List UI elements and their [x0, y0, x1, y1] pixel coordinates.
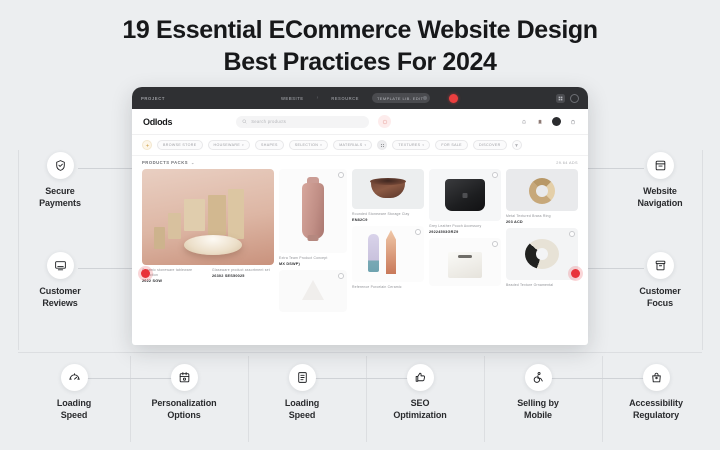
search-input[interactable]: Search products [236, 116, 369, 128]
chip-label: SHAPES [261, 143, 278, 147]
topbar-nav-resource-label: RESOURCE [331, 96, 359, 101]
callout-label: Personalization Options [132, 398, 236, 422]
sparkle-icon [145, 143, 150, 148]
chevron-down-icon: ▾ [242, 143, 244, 147]
product-price: EN82C9 [352, 218, 424, 222]
monitor-icon [47, 252, 74, 279]
callout-label-line2: Options [167, 410, 200, 420]
category-chip-row: BROWSE STORE HOUSEWARE▾ SHAPES SELECTION… [132, 135, 588, 156]
callout-loading-speed-2[interactable]: Loading Speed [250, 364, 354, 422]
page-title-line-2: Best Practices For 2024 [0, 46, 720, 78]
chip-filter[interactable] [512, 140, 522, 150]
share-icon[interactable] [570, 94, 579, 103]
search-placeholder: Search products [251, 119, 286, 124]
chip-label: FOR SALE [441, 143, 462, 147]
bag-handle-icon [643, 364, 670, 391]
callout-selling-by-mobile[interactable]: Selling by Mobile [486, 364, 590, 422]
product-price: 2022 SGW [142, 279, 204, 283]
product-price: MX DSWP) [279, 262, 347, 266]
callout-label-line2: Payments [39, 198, 81, 208]
favorite-icon[interactable] [492, 241, 498, 247]
callout-label-line1: Personalization [151, 398, 216, 408]
callout-label: Website Navigation [608, 186, 712, 210]
callout-website-navigation[interactable]: Website Navigation [608, 152, 712, 210]
gold-ring-image [506, 169, 578, 211]
calendar-icon [171, 364, 198, 391]
pink-bottle-image [279, 169, 347, 253]
chip-dot-grid[interactable] [377, 140, 387, 150]
products-count: 29.64 ADS [556, 161, 578, 165]
product-card-hero[interactable]: Ceramic stoneware tableware collection 2… [142, 169, 274, 283]
favorite-icon[interactable] [415, 229, 421, 235]
ceramic-bowl [184, 235, 242, 255]
callout-label-line1: Accessibility [629, 398, 683, 408]
product-caption: Ceramic stoneware tableware collection [142, 268, 204, 278]
thumbs-up-icon [407, 364, 434, 391]
favorite-icon[interactable] [338, 273, 344, 279]
callout-label-line1: Website [643, 186, 677, 196]
store-header: Odlods Search products [132, 109, 588, 135]
callout-seo-optimization[interactable]: SEO Optimization [368, 364, 472, 422]
callout-label: Customer Focus [608, 286, 712, 310]
product-price: 26302 SES50025 [212, 274, 274, 278]
black-pouch-image [429, 169, 501, 221]
document-icon [289, 364, 316, 391]
product-card-tissue[interactable] [429, 238, 501, 286]
callout-label-line1: SEO [411, 398, 430, 408]
callout-label-line2: Navigation [637, 198, 682, 208]
divider-v3 [366, 356, 367, 442]
callout-label-line2: Reviews [42, 298, 77, 308]
product-card-pouch[interactable]: Grey Leather Pouch Accessory 29224503GRZ… [429, 169, 501, 234]
callout-personalization-options[interactable]: Personalization Options [132, 364, 236, 422]
chip-sparkle[interactable] [142, 140, 152, 150]
store-logo[interactable]: Odlods [143, 117, 172, 127]
chevron-down-icon: ▾ [320, 143, 322, 147]
product-caption: Rounded Stoneware Storage Clay [352, 212, 424, 217]
product-card-brown-bowl[interactable]: Rounded Stoneware Storage Clay EN82C9 [352, 169, 424, 222]
accessibility-icon [525, 364, 552, 391]
product-caption: Glassware product assortment set [212, 268, 274, 273]
assistant-button[interactable] [378, 115, 391, 128]
topbar-nav-website-label: WEBSITE [281, 96, 304, 101]
callout-label-line1: Customer [639, 286, 680, 296]
chip-label: TEXTURES [398, 143, 420, 147]
callout-label: Customer Reviews [8, 286, 112, 310]
chip-label: HOUSEWARE [214, 143, 241, 147]
page-title-line-1: 19 Essential ECommerce Website Design [0, 14, 720, 46]
chip-discover[interactable]: DISCOVER [473, 140, 507, 150]
callout-loading-speed-1[interactable]: Loading Speed [22, 364, 126, 422]
callout-customer-focus[interactable]: Customer Focus [608, 252, 712, 310]
topbar-brand: PROJECT [141, 96, 165, 101]
topbar-nav-website[interactable]: WEBSITE [281, 96, 304, 101]
topbar-separator: › [317, 95, 319, 101]
product-card-gold-ring[interactable]: Metal Textured Brass Ring 203 ACD [506, 169, 578, 224]
hotspot-marker-left[interactable] [141, 269, 150, 278]
divider-v1 [130, 356, 131, 442]
chip-shapes[interactable]: SHAPES [255, 140, 284, 150]
callout-label-line1: Secure [45, 186, 74, 196]
callout-secure-payments[interactable]: Secure Payments [8, 152, 112, 210]
products-bar: PRODUCTS PACKS ⌄ 29.64 ADS [132, 156, 588, 167]
chip-label: BROWSE STORE [163, 143, 197, 147]
callout-label-line1: Loading [285, 398, 319, 408]
callout-label-line2: Focus [647, 298, 673, 308]
divider-horizontal [18, 352, 702, 353]
browser-mockup: PROJECT WEBSITE › RESOURCE TEMPLATE LIB.… [132, 87, 588, 345]
product-caption: Beaded Texture Ornamental [506, 283, 578, 288]
callout-label: SEO Optimization [368, 398, 472, 422]
product-price: 203 ACD [506, 220, 578, 224]
favorite-icon[interactable] [338, 172, 344, 178]
product-column-e: Metal Textured Brass Ring 203 ACD Beaded… [506, 169, 578, 337]
callout-label-line2: Regulatory [633, 410, 679, 420]
hotspot-marker-right[interactable] [571, 269, 580, 278]
topbar-nav-resource[interactable]: RESOURCE [331, 96, 359, 101]
products-label: PRODUCTS PACKS [142, 160, 188, 165]
callout-label: Selling by Mobile [486, 398, 590, 422]
sparkle-icon [382, 119, 388, 125]
chip-browse-store[interactable]: BROWSE STORE [157, 140, 203, 150]
callout-label-line1: Customer [39, 286, 80, 296]
mockup-topbar: PROJECT WEBSITE › RESOURCE TEMPLATE LIB.… [132, 87, 588, 109]
callout-label: Accessibility Regulatory [604, 398, 708, 422]
shield-check-icon [47, 152, 74, 179]
favorite-icon[interactable] [492, 172, 498, 178]
chevron-down-icon: ▾ [422, 143, 424, 147]
white-lamp-image [279, 270, 347, 312]
archive-box-icon [647, 252, 674, 279]
callout-label-line2: Optimization [393, 410, 446, 420]
dot-grid-icon [380, 143, 385, 148]
chip-for-sale[interactable]: FOR SALE [435, 140, 468, 150]
store-icon [647, 152, 674, 179]
avatar[interactable] [552, 117, 561, 126]
ceramic-hero-image [142, 169, 274, 265]
brown-bowl-image [352, 169, 424, 209]
callout-label: Loading Speed [22, 398, 126, 422]
tissue-box-image [429, 238, 501, 286]
callout-label-line1: Loading [57, 398, 91, 408]
chevron-down-icon[interactable]: ⌄ [191, 160, 195, 165]
callout-customer-reviews[interactable]: Customer Reviews [8, 252, 112, 310]
search-icon [242, 119, 247, 124]
product-card-cream-ring[interactable]: Beaded Texture Ornamental [506, 228, 578, 288]
store-header-actions [520, 117, 577, 126]
callout-label-line2: Speed [61, 410, 88, 420]
page-title: 19 Essential ECommerce Website Design Be… [0, 14, 720, 78]
product-caption: Metal Textured Brass Ring [506, 214, 578, 219]
pastel-pencils-image [352, 226, 424, 282]
bag-icon[interactable] [569, 118, 577, 126]
product-caption: Reference Porcelain Ceramic [352, 285, 424, 290]
product-grid: Ceramic stoneware tableware collection 2… [132, 167, 588, 337]
product-column-d: Grey Leather Pouch Accessory 29224503GRZ… [429, 169, 501, 337]
divider-v2 [248, 356, 249, 442]
speedometer-icon [61, 364, 88, 391]
chevron-down-icon: ▾ [364, 143, 366, 147]
callout-label: Secure Payments [8, 186, 112, 210]
callout-label-line2: Mobile [524, 410, 552, 420]
favorite-icon[interactable] [569, 231, 575, 237]
filter-icon [514, 143, 519, 148]
divider-v5 [602, 356, 603, 442]
bookmark-icon[interactable] [536, 118, 544, 126]
chip-houseware[interactable]: HOUSEWARE▾ [208, 140, 251, 150]
callout-label-line2: Speed [289, 410, 316, 420]
grid-icon[interactable] [556, 94, 565, 103]
chip-selection[interactable]: SELECTION▾ [289, 140, 328, 150]
product-caption: Grey Leather Pouch Accessory [429, 224, 501, 229]
product-caption: Extra Team Product Concept [279, 256, 347, 261]
chip-textures[interactable]: TEXTURES▾ [392, 140, 430, 150]
chip-materials[interactable]: MATERIALS▾ [333, 140, 372, 150]
topbar-right-icons [556, 94, 579, 103]
divider-v4 [484, 356, 485, 442]
product-column-b: Extra Team Product Concept MX DSWP) [279, 169, 347, 337]
product-card-pencils[interactable]: Reference Porcelain Ceramic [352, 226, 424, 290]
topbar-pill[interactable]: TEMPLATE LIB. EDIT [372, 93, 430, 103]
bell-icon[interactable] [520, 118, 528, 126]
chip-label: MATERIALS [339, 143, 362, 147]
callout-label-line1: Selling by [517, 398, 559, 408]
hero-captions: Ceramic stoneware tableware collection 2… [142, 265, 274, 283]
chip-label: SELECTION [295, 143, 319, 147]
product-column-c: Rounded Stoneware Storage Clay EN82C9 Re… [352, 169, 424, 337]
product-card-bottle[interactable]: Extra Team Product Concept MX DSWP) [279, 169, 347, 266]
topbar-status-dot [449, 94, 458, 103]
topbar-nav: WEBSITE › RESOURCE TEMPLATE LIB. EDIT [281, 93, 458, 103]
callout-accessibility-regulatory[interactable]: Accessibility Regulatory [604, 364, 708, 422]
product-card-lamp[interactable] [279, 270, 347, 312]
product-column-a: Ceramic stoneware tableware collection 2… [142, 169, 274, 337]
black-cream-ring-image [506, 228, 578, 280]
product-price: 29224503GRZ9 [429, 230, 501, 234]
callout-label: Loading Speed [250, 398, 354, 422]
chip-label: DISCOVER [479, 143, 501, 147]
